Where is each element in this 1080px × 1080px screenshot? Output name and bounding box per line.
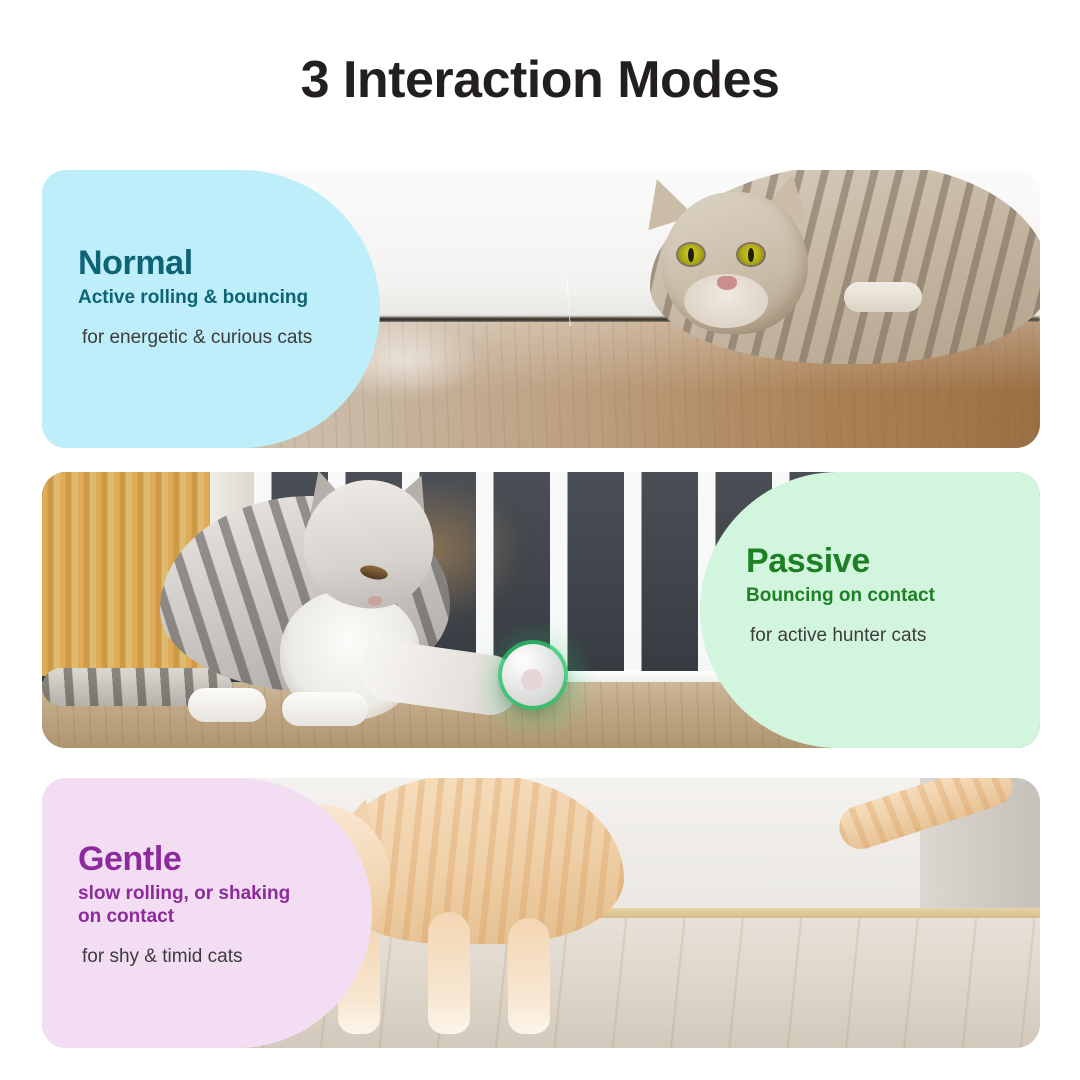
page-title: 3 Interaction Modes: [0, 52, 1080, 109]
mode-label-blob-passive: Passive Bouncing on contact for active h…: [700, 472, 1040, 748]
mode-card-passive: Passive Bouncing on contact for active h…: [42, 472, 1040, 748]
mode-label-blob-gentle: Gentle slow rolling, or shaking on conta…: [42, 778, 372, 1048]
mode-text-group-passive: Passive Bouncing on contact for active h…: [746, 542, 1010, 648]
cat-whiskers-icon: [566, 270, 689, 326]
mode-description-passive: for active hunter cats: [746, 624, 1010, 648]
mode-card-normal: Normal Active rolling & bouncing for ene…: [42, 170, 1040, 448]
mode-description-gentle: for shy & timid cats: [78, 945, 312, 969]
mode-text-group-normal: Normal Active rolling & bouncing for ene…: [78, 244, 334, 350]
cat-nose-icon: [368, 596, 382, 606]
mode-subtitle-normal: Active rolling & bouncing: [78, 287, 334, 310]
toy-ball-icon: [502, 644, 564, 706]
cat-leg-icon: [428, 912, 470, 1034]
cat-pupil-left-icon: [688, 248, 694, 262]
cat-leg-icon: [508, 918, 550, 1034]
mode-title-normal: Normal: [78, 244, 334, 283]
cat-paw-icon: [282, 692, 368, 726]
cat-pupil-right-icon: [748, 248, 754, 262]
mode-description-normal: for energetic & curious cats: [78, 326, 334, 350]
mode-card-gentle: Gentle slow rolling, or shaking on conta…: [42, 778, 1040, 1048]
cat-paw-icon: [844, 282, 922, 312]
mode-subtitle-passive: Bouncing on contact: [746, 585, 1010, 608]
mode-label-blob-normal: Normal Active rolling & bouncing for ene…: [42, 170, 380, 448]
mode-subtitle-gentle: slow rolling, or shaking on contact: [78, 883, 312, 929]
cat-paw-icon: [188, 688, 266, 722]
mode-text-group-gentle: Gentle slow rolling, or shaking on conta…: [78, 840, 312, 968]
cat-nose-icon: [717, 276, 737, 290]
mode-title-passive: Passive: [746, 542, 1010, 581]
product-feature-page: 3 Interaction Modes N: [0, 0, 1080, 1080]
mode-title-gentle: Gentle: [78, 840, 312, 879]
